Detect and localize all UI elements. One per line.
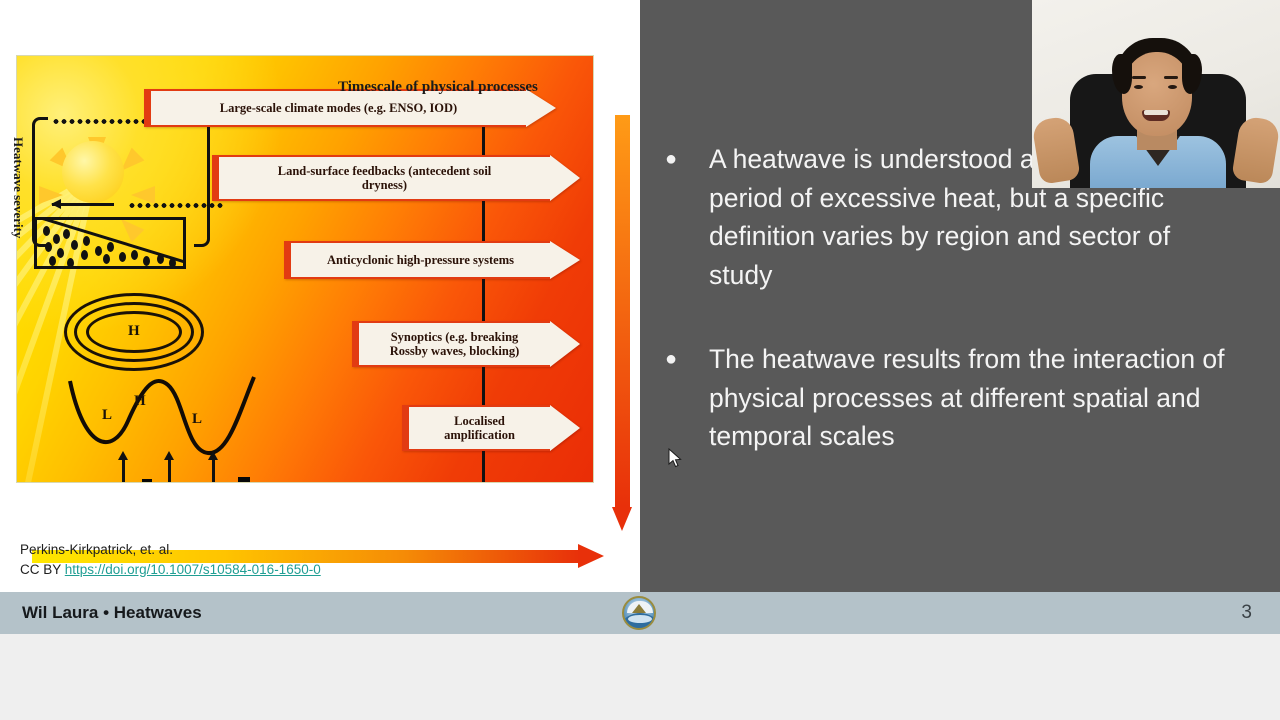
organization-logo-icon [622, 596, 656, 630]
footer-title: Wil Laura • Heatwaves [22, 603, 202, 623]
figure-citation: Perkins-Kirkpatrick, et. al. CC BY https… [20, 540, 321, 579]
bullet-marker-icon: ● [665, 340, 709, 456]
heatwave-severity-axis [612, 115, 634, 545]
heatwave-drivers-figure: H L H L [16, 55, 636, 487]
figure-border [16, 55, 594, 483]
bullet-list: ● A heatwave is understood as a prolonge… [665, 140, 1235, 502]
presenter-eyebrow-right [1164, 76, 1178, 79]
timescale-axis-label: Timescale of physical processes [338, 79, 538, 96]
figure-gradient-panel: H L H L [16, 55, 594, 483]
presenter-eye-left [1134, 85, 1143, 89]
presenter-video-overlay[interactable] [1032, 0, 1280, 188]
severity-gradient-bar [615, 115, 630, 507]
citation-license: CC BY [20, 562, 61, 577]
bullet-marker-icon: ● [665, 140, 709, 294]
severity-axis-label: Heatwave severity [10, 137, 26, 238]
bullet-item: ● The heatwave results from the interact… [665, 340, 1235, 456]
presenter-eye-right [1168, 85, 1177, 89]
bullet-text: The heatwave results from the interactio… [709, 340, 1235, 456]
slide-left-panel: H L H L [0, 0, 640, 592]
citation-authors: Perkins-Kirkpatrick, et. al. [20, 540, 321, 560]
mouse-cursor-icon [668, 448, 682, 468]
viewer-background [0, 634, 1280, 720]
presenter-eyebrow-left [1132, 76, 1146, 79]
slide-viewer: H L H L [0, 0, 1280, 720]
citation-doi-link[interactable]: https://doi.org/10.1007/s10584-016-1650-… [65, 562, 321, 577]
slide-footer: Wil Laura • Heatwaves 3 [0, 592, 1280, 634]
timescale-arrowhead-icon [578, 544, 604, 568]
presenter-teeth [1144, 110, 1168, 115]
severity-arrowhead-icon [612, 507, 632, 531]
slide-page-number: 3 [1241, 602, 1252, 624]
